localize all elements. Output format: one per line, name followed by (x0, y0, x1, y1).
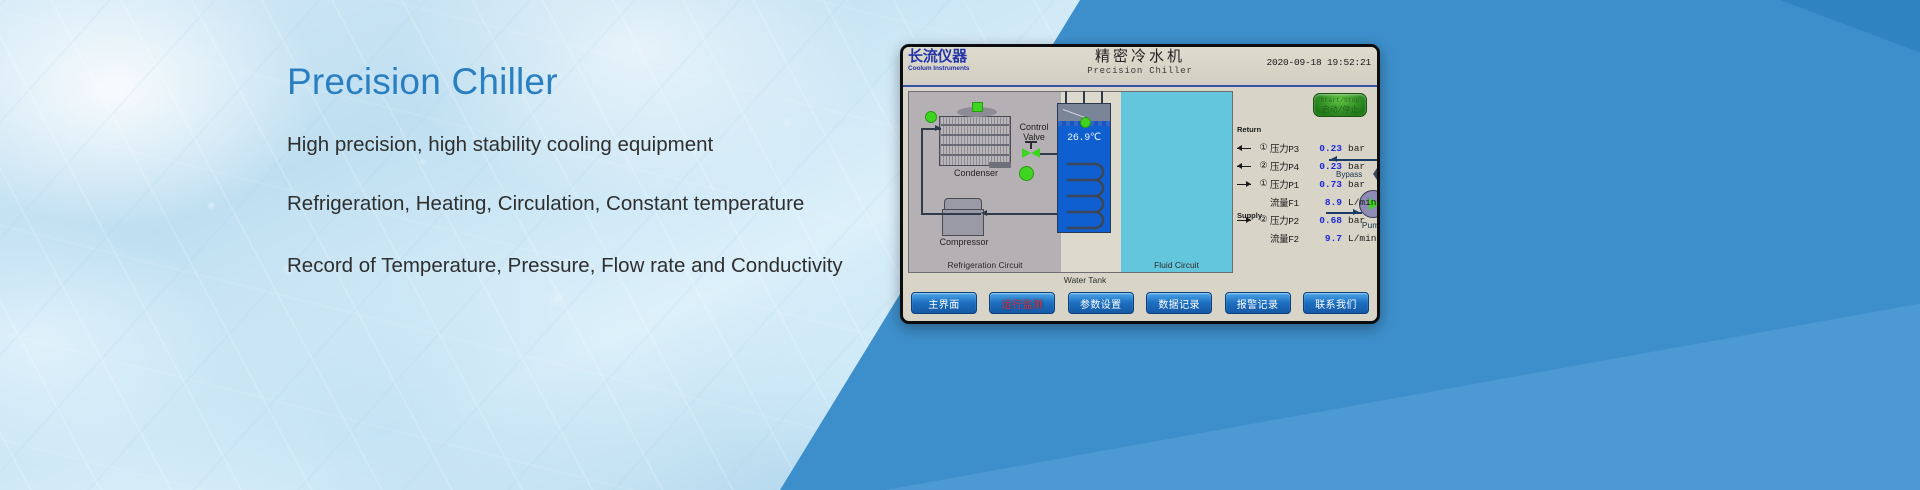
subline-3: Record of Temperature, Pressure, Flow ra… (287, 253, 907, 279)
readout-unit: bar (1342, 161, 1365, 172)
tank-status-led (1080, 117, 1091, 128)
valve-stem (1030, 143, 1032, 149)
readout-unit: bar (1342, 143, 1365, 154)
readout-name: 压力P1 (1270, 177, 1312, 191)
flow-arrow-compressor-in (981, 210, 987, 216)
readout-unit: L/min (1342, 233, 1377, 244)
readout-value: 0.23 (1312, 143, 1342, 154)
flow-arrow-right-icon (1237, 215, 1257, 225)
readout-unit: bar (1342, 179, 1365, 190)
valve-left-triangle (1022, 148, 1031, 158)
start-stop-label-en: Start/Stop (1314, 96, 1366, 106)
readout-value: 0.73 (1312, 179, 1342, 190)
zone-fluid-circuit: Pump Bypass Flui (1121, 92, 1232, 272)
start-stop-button[interactable]: Start/Stop 启动/停止 (1313, 93, 1367, 117)
nav-button-label: 数据记录 (1158, 296, 1200, 311)
fan-status-led (972, 102, 983, 112)
flow-arrow-condenser-in (935, 125, 941, 131)
valve-status-led (1019, 166, 1034, 181)
readout-name: 流量F1 (1270, 195, 1312, 209)
pipe-left-riser (921, 128, 923, 214)
hmi-body: Condenser Compressor Control Valve (903, 87, 1377, 287)
tank-heat-exchanger-coil (1065, 156, 1105, 232)
readout-row: ②压力P40.23bar (1237, 157, 1375, 175)
readout-value: 9.7 (1312, 233, 1342, 244)
zone-label-fluid: Fluid Circuit (1121, 260, 1232, 270)
return-line-label: Return (1237, 125, 1261, 134)
readout-unit: bar (1342, 215, 1365, 226)
promo-banner: Precision Chiller High precision, high s… (0, 0, 1920, 490)
hmi-touch-panel: 长流仪器 Coolum Instruments 精密冷水机 Precision … (900, 44, 1380, 324)
hmi-screen: 长流仪器 Coolum Instruments 精密冷水机 Precision … (903, 47, 1377, 321)
nav-button-3[interactable]: 参数设置 (1068, 292, 1134, 314)
nav-button-1[interactable]: 主界面 (911, 292, 977, 314)
water-tank-label: Water Tank (1055, 275, 1115, 285)
pipe-bottom-to-compressor (921, 213, 981, 215)
readout-row: 流量F29.7L/min (1237, 229, 1375, 247)
readout-row: ①压力P30.23bar (1237, 139, 1375, 157)
readout-value: 0.68 (1312, 215, 1342, 226)
coil-svg (1065, 156, 1105, 232)
readout-marker: ① (1257, 179, 1270, 189)
readout-marker: ② (1257, 215, 1270, 225)
zone-label-refrigeration: Refrigeration Circuit (909, 260, 1061, 270)
control-valve-icon (1022, 148, 1040, 159)
page-title: Precision Chiller (287, 60, 907, 104)
readout-marker: ② (1257, 161, 1270, 171)
flow-arrow-left-icon (1237, 143, 1257, 153)
readout-marker: ① (1257, 143, 1270, 153)
readout-value: 0.23 (1312, 161, 1342, 172)
valve-right-triangle (1031, 148, 1040, 158)
control-valve-label: Control Valve (1007, 122, 1061, 143)
hmi-header: 长流仪器 Coolum Instruments 精密冷水机 Precision … (903, 47, 1377, 87)
readout-value: 8.9 (1312, 197, 1342, 208)
control-valve-label-line1: Control (1019, 122, 1048, 132)
readout-panel: Start/Stop 启动/停止 Return Supply ①压力P30.23… (1237, 91, 1375, 273)
valve-handle (1025, 141, 1037, 143)
marketing-copy: Precision Chiller High precision, high s… (287, 60, 907, 278)
readout-row: ②压力P20.68bar (1237, 211, 1375, 229)
readout-name: 流量F2 (1270, 231, 1312, 245)
nav-button-5[interactable]: 报警记录 (1225, 292, 1291, 314)
hmi-nav-bar: 主界面运行监测参数设置数据记录报警记录联系我们 (903, 287, 1377, 321)
flow-arrow-left-icon (1237, 161, 1257, 171)
nav-button-label: 主界面 (928, 296, 959, 311)
compressor-label: Compressor (921, 237, 1007, 247)
subline-2: Refrigeration, Heating, Circulation, Con… (287, 191, 907, 217)
compressor-status-led (925, 111, 937, 123)
nav-button-6[interactable]: 联系我们 (1303, 292, 1369, 314)
nav-button-label: 报警记录 (1237, 296, 1279, 311)
readout-row: 流量F18.9L/min (1237, 193, 1375, 211)
condenser-coil (941, 118, 1009, 164)
nav-button-label: 运行监测 (1002, 296, 1044, 311)
readout-name: 压力P2 (1270, 213, 1312, 227)
condenser-label: Condenser (931, 168, 1021, 178)
readout-row: ①压力P10.73bar (1237, 175, 1375, 193)
datetime-display: 2020-09-18 19:52:21 (1266, 57, 1371, 68)
readout-name: 压力P4 (1270, 159, 1312, 173)
zone-refrigeration-circuit: Condenser Compressor Control Valve (909, 92, 1061, 272)
nav-button-label: 参数设置 (1080, 296, 1122, 311)
subline-1: High precision, high stability cooling e… (287, 132, 907, 158)
start-stop-label-cn: 启动/停止 (1314, 106, 1366, 116)
pipe-compressor-return (987, 213, 1063, 215)
nav-button-2[interactable]: 运行监测 (989, 292, 1055, 314)
compressor-shape (942, 198, 984, 236)
readout-name: 压力P3 (1270, 141, 1312, 155)
readout-unit: L/min (1342, 197, 1377, 208)
nav-button-label: 联系我们 (1315, 296, 1357, 311)
water-tank-shape: 26.9℃ (1057, 103, 1111, 233)
flow-arrow-right-icon (1237, 179, 1257, 189)
nav-button-4[interactable]: 数据记录 (1146, 292, 1212, 314)
tank-temperature-readout: 26.9℃ (1058, 132, 1110, 144)
readout-rows: ①压力P30.23bar②压力P40.23bar①压力P10.73bar流量F1… (1237, 139, 1375, 247)
